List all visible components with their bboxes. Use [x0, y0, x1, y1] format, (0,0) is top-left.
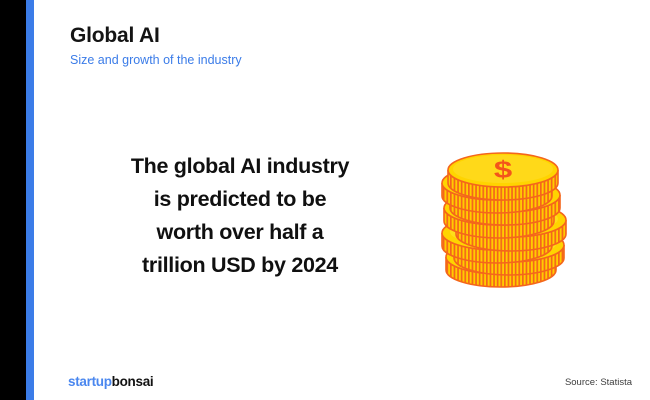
logo-text-bonsai: bonsai [112, 374, 154, 389]
infographic-canvas: Global AI Size and growth of the industr… [0, 0, 650, 400]
logo-text-startup: startup [68, 374, 112, 389]
dollar-sign-icon: $ [494, 157, 512, 183]
headline-line: trillion USD by 2024 [60, 249, 420, 282]
page-subtitle: Size and growth of the industry [70, 53, 490, 68]
headline-line: The global AI industry [60, 150, 420, 183]
header: Global AI Size and growth of the industr… [70, 24, 490, 68]
left-blue-accent-bar [26, 0, 34, 400]
source-attribution: Source: Statista [565, 377, 632, 388]
headline-line: is predicted to be [60, 183, 420, 216]
brand-logo[interactable]: startupbonsai [68, 374, 153, 389]
coin-top: $ [448, 153, 558, 200]
coin-stack-illustration: $ [432, 130, 592, 305]
headline-statement: The global AI industry is predicted to b… [60, 150, 420, 282]
headline-line: worth over half a [60, 216, 420, 249]
left-black-bar [0, 0, 26, 400]
page-title: Global AI [70, 24, 490, 48]
